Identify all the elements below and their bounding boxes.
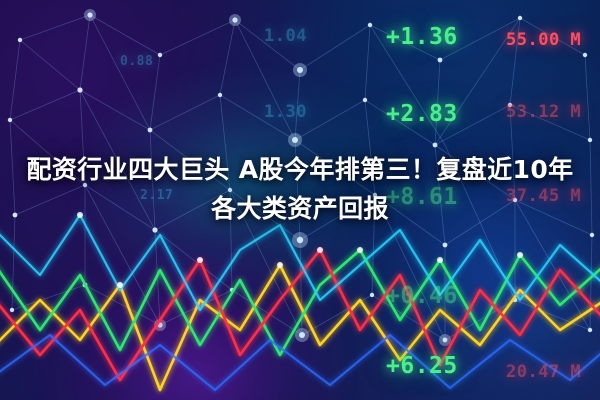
ticker-value: +0.46: [386, 283, 458, 309]
ticker-value: +2.83: [386, 101, 458, 127]
ticker-volume: 55.00 M: [506, 30, 581, 50]
ticker-value: +1.36: [386, 24, 458, 50]
headline-line-2: 各大类资产回报: [14, 189, 586, 228]
ticker-volume: 20.47 M: [506, 362, 581, 382]
ticker-secondary: 1.04: [264, 26, 307, 46]
headline-line-1: 配资行业四大巨头 A股今年排第三！复盘近10年: [14, 150, 586, 189]
news-cover-image: +1.36 +2.83 +8.61 +0.46 +6.25 55.00 M 53…: [0, 0, 600, 400]
ticker-secondary: 0.88: [120, 54, 153, 69]
ticker-value: +6.25: [386, 353, 458, 379]
headline-text: 配资行业四大巨头 A股今年排第三！复盘近10年 各大类资产回报: [0, 150, 600, 228]
ticker-volume: 53.12 M: [506, 102, 581, 122]
ticker-secondary: 1.30: [264, 102, 307, 122]
